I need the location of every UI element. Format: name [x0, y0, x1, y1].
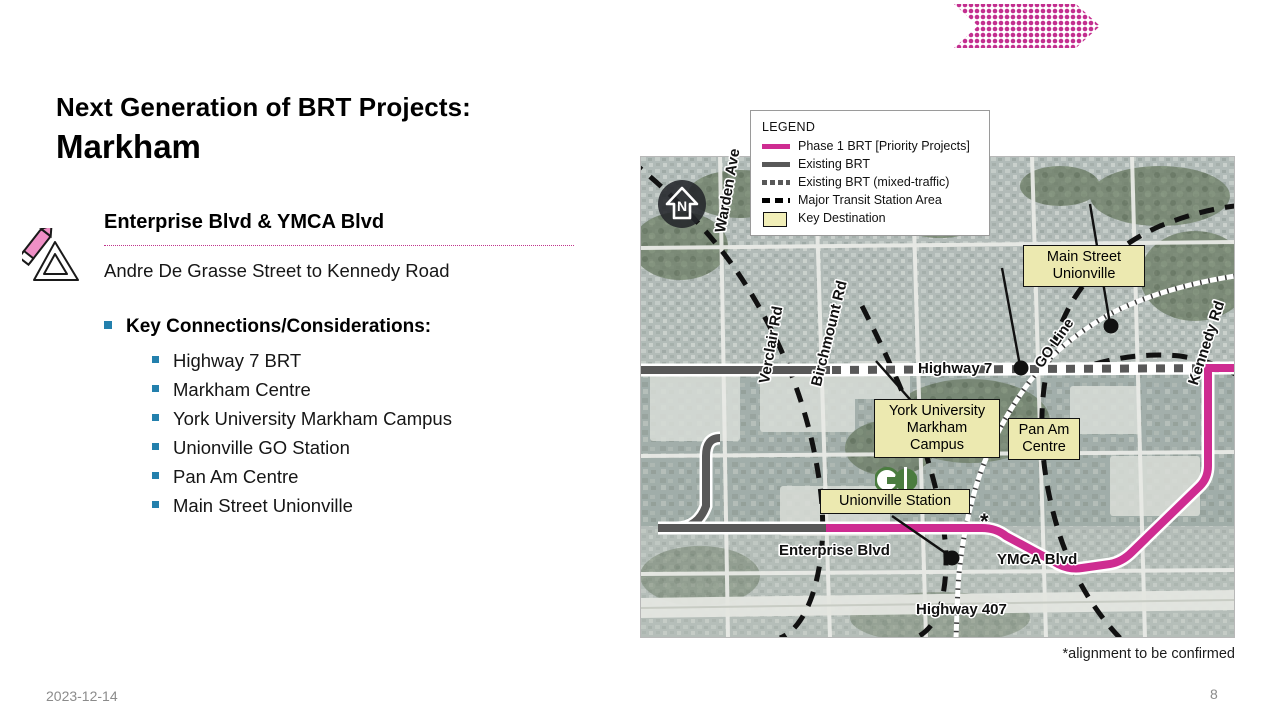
legend-swatch-solid-pink-icon	[762, 140, 790, 152]
bullet-square-icon	[152, 501, 159, 508]
legend-swatch-solid-grey-icon	[762, 158, 790, 170]
bullet-square-icon	[152, 356, 159, 363]
list-item-label: York University Markham Campus	[173, 404, 452, 433]
list-item: Markham Centre	[152, 375, 604, 404]
title-line-2: Markham	[56, 126, 616, 167]
legend-item-existing-brt: Existing BRT	[762, 157, 978, 171]
list-item-label: Unionville GO Station	[173, 433, 350, 462]
list-item-label: Highway 7 BRT	[173, 346, 301, 375]
legend-item-key-destination: Key Destination	[762, 211, 978, 225]
list-item-label: Main Street Unionville	[173, 491, 353, 520]
slide-root: Next Generation of BRT Projects: Markham…	[0, 0, 1280, 720]
legend-item-major-transit-station-area: Major Transit Station Area	[762, 193, 978, 207]
callout-line-2: Unionville	[1031, 266, 1137, 283]
legend-item-label: Existing BRT (mixed-traffic)	[798, 175, 949, 189]
list-item: Main Street Unionville	[152, 491, 604, 520]
road-label-ymca-blvd: YMCA Blvd	[997, 551, 1077, 568]
callout-pan-am-centre: Pan Am Centre	[1008, 418, 1080, 460]
callout-line-1: Unionville Station	[828, 493, 962, 510]
divider	[104, 245, 574, 246]
list-item-label: Markham Centre	[173, 375, 311, 404]
legend-title: LEGEND	[762, 120, 978, 134]
bullet-heading-label: Key Connections/Considerations:	[126, 313, 431, 342]
list-item-label: Pan Am Centre	[173, 462, 298, 491]
list-item: Pan Am Centre	[152, 462, 604, 491]
sub-bullet-list: Highway 7 BRT Markham Centre York Univer…	[152, 346, 604, 520]
svg-text:N: N	[677, 198, 687, 214]
alignment-asterisk-marker: *	[980, 511, 989, 533]
legend-swatch-dashed-black-icon	[762, 194, 790, 206]
section-subheading: Enterprise Blvd & YMCA Blvd	[104, 208, 604, 236]
road-label-enterprise-blvd: Enterprise Blvd	[779, 542, 890, 559]
bullet-square-icon	[152, 414, 159, 421]
callout-line-1: Pan Am	[1016, 422, 1072, 439]
road-label-highway-407: Highway 407	[916, 601, 1007, 618]
bullet-square-icon	[104, 321, 112, 329]
legend-item-phase-1-brt: Phase 1 BRT [Priority Projects]	[762, 139, 978, 153]
legend-swatch-dotted-grey-icon	[762, 176, 790, 188]
legend-item-label: Phase 1 BRT [Priority Projects]	[798, 139, 970, 153]
pencil-ruler-icon	[22, 228, 96, 290]
legend-item-existing-brt-mixed-traffic: Existing BRT (mixed-traffic)	[762, 175, 978, 189]
key-connections-list: Key Connections/Considerations: Highway …	[104, 313, 604, 520]
legend-item-label: Existing BRT	[798, 157, 870, 171]
legend-item-label: Key Destination	[798, 211, 886, 225]
callout-unionville-station: Unionville Station	[820, 489, 970, 514]
bullet-square-icon	[152, 385, 159, 392]
bullet-square-icon	[152, 472, 159, 479]
callout-main-street-unionville: Main Street Unionville	[1023, 245, 1145, 287]
footer-page-number: 8	[1210, 686, 1218, 702]
bullet-square-icon	[152, 443, 159, 450]
callout-line-2: Centre	[1016, 439, 1072, 456]
bullet-heading-row: Key Connections/Considerations:	[104, 313, 604, 342]
section-description: Andre De Grasse Street to Kennedy Road	[104, 259, 604, 284]
list-item: Unionville GO Station	[152, 433, 604, 462]
section-block: Enterprise Blvd & YMCA Blvd Andre De Gra…	[104, 208, 604, 284]
callout-line-1: York University	[882, 403, 992, 420]
page-title: Next Generation of BRT Projects: Markham	[56, 92, 616, 167]
callout-line-1: Main Street	[1031, 249, 1137, 266]
title-line-1: Next Generation of BRT Projects:	[56, 92, 616, 124]
callout-york-university-markham-campus: York University Markham Campus	[874, 399, 1000, 458]
footer-date: 2023-12-14	[46, 688, 118, 704]
chevron-halftone-logo	[950, 2, 1100, 50]
list-item: York University Markham Campus	[152, 404, 604, 433]
map-footnote: *alignment to be confirmed	[900, 646, 1235, 662]
map-legend: LEGEND Phase 1 BRT [Priority Projects] E…	[750, 110, 990, 236]
legend-item-label: Major Transit Station Area	[798, 193, 942, 207]
legend-swatch-key-destination-icon	[762, 212, 790, 224]
list-item: Highway 7 BRT	[152, 346, 604, 375]
callout-line-3: Campus	[882, 437, 992, 454]
road-label-highway-7: Highway 7	[918, 360, 992, 377]
callout-line-2: Markham	[882, 420, 992, 437]
